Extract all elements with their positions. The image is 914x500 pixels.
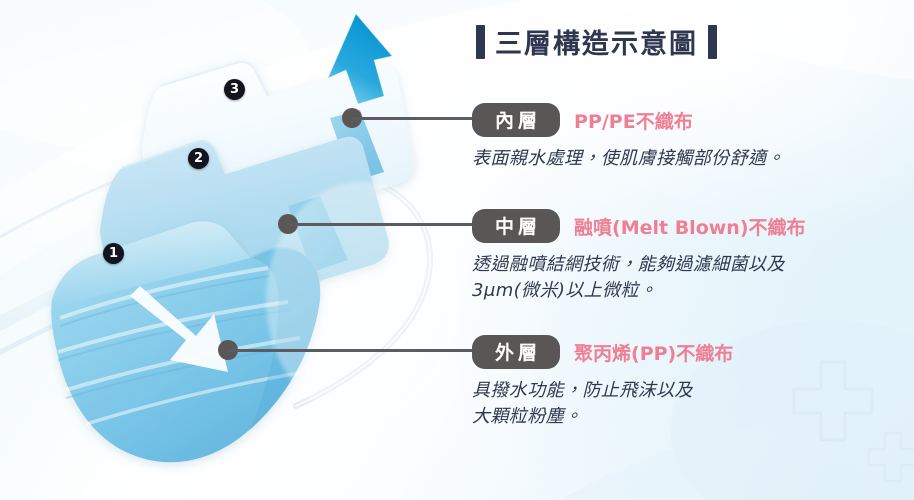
- layer-middle-description-line-1: 透過融噴結網技術，能夠過濾細菌以及: [472, 252, 914, 278]
- mask-structure-infographic: 1 2 3 三層構造示意圖 內層 PP/PE不織布 表面親水處理，使肌膚接觸部份…: [0, 0, 914, 500]
- layer-outer-tag: 外層: [472, 335, 560, 369]
- layer-middle-material: 融噴(Melt Blown)不織布: [574, 213, 806, 240]
- layer-middle-tag: 中層: [472, 209, 560, 243]
- panel-title: 三層構造示意圖: [476, 22, 717, 61]
- leader-stroke-inner: [352, 117, 482, 120]
- layer-outer-material: 聚丙烯(PP)不織布: [574, 339, 733, 366]
- layers-panel: 三層構造示意圖 內層 PP/PE不織布 表面親水處理，使肌膚接觸部份舒適。 中層…: [468, 0, 914, 500]
- layer-inner-description-line-1: 表面親水處理，使肌膚接觸部份舒適。: [472, 146, 914, 172]
- leader-stroke-outer: [228, 349, 482, 352]
- layer-entry-inner: 內層 PP/PE不織布 表面親水處理，使肌膚接觸部份舒適。: [472, 103, 914, 172]
- layer-inner-heading: 內層 PP/PE不織布: [472, 103, 914, 137]
- layer-marker-1: 1: [103, 243, 124, 264]
- title-bar-left-icon: [476, 25, 485, 59]
- title-bar-right-icon: [708, 25, 717, 59]
- title-text: 三層構造示意圖: [495, 22, 698, 61]
- layer-middle-description-line-2: 3μm(微米)以上微粒。: [472, 278, 914, 304]
- layer-middle-heading: 中層 融噴(Melt Blown)不織布: [472, 209, 914, 243]
- layer-inner-tag: 內層: [472, 103, 560, 137]
- layer-entry-middle: 中層 融噴(Melt Blown)不織布 透過融噴結網技術，能夠過濾細菌以及 3…: [472, 209, 914, 303]
- leader-stroke-middle: [288, 223, 482, 226]
- layer-outer-heading: 外層 聚丙烯(PP)不織布: [472, 335, 914, 369]
- layer-marker-3: 3: [224, 79, 245, 100]
- layer-marker-2: 2: [188, 148, 209, 169]
- layer-outer-description-line-1: 具撥水功能，防止飛沫以及: [472, 378, 914, 404]
- layer-inner-description: 表面親水處理，使肌膚接觸部份舒適。: [472, 146, 914, 172]
- layer-outer-description: 具撥水功能，防止飛沫以及 大顆粒粉塵。: [472, 378, 914, 429]
- layer-outer-description-line-2: 大顆粒粉塵。: [472, 404, 914, 430]
- layer-middle-description: 透過融噴結網技術，能夠過濾細菌以及 3μm(微米)以上微粒。: [472, 252, 914, 303]
- layer-entry-outer: 外層 聚丙烯(PP)不織布 具撥水功能，防止飛沫以及 大顆粒粉塵。: [472, 335, 914, 429]
- layer-inner-material: PP/PE不織布: [574, 107, 693, 134]
